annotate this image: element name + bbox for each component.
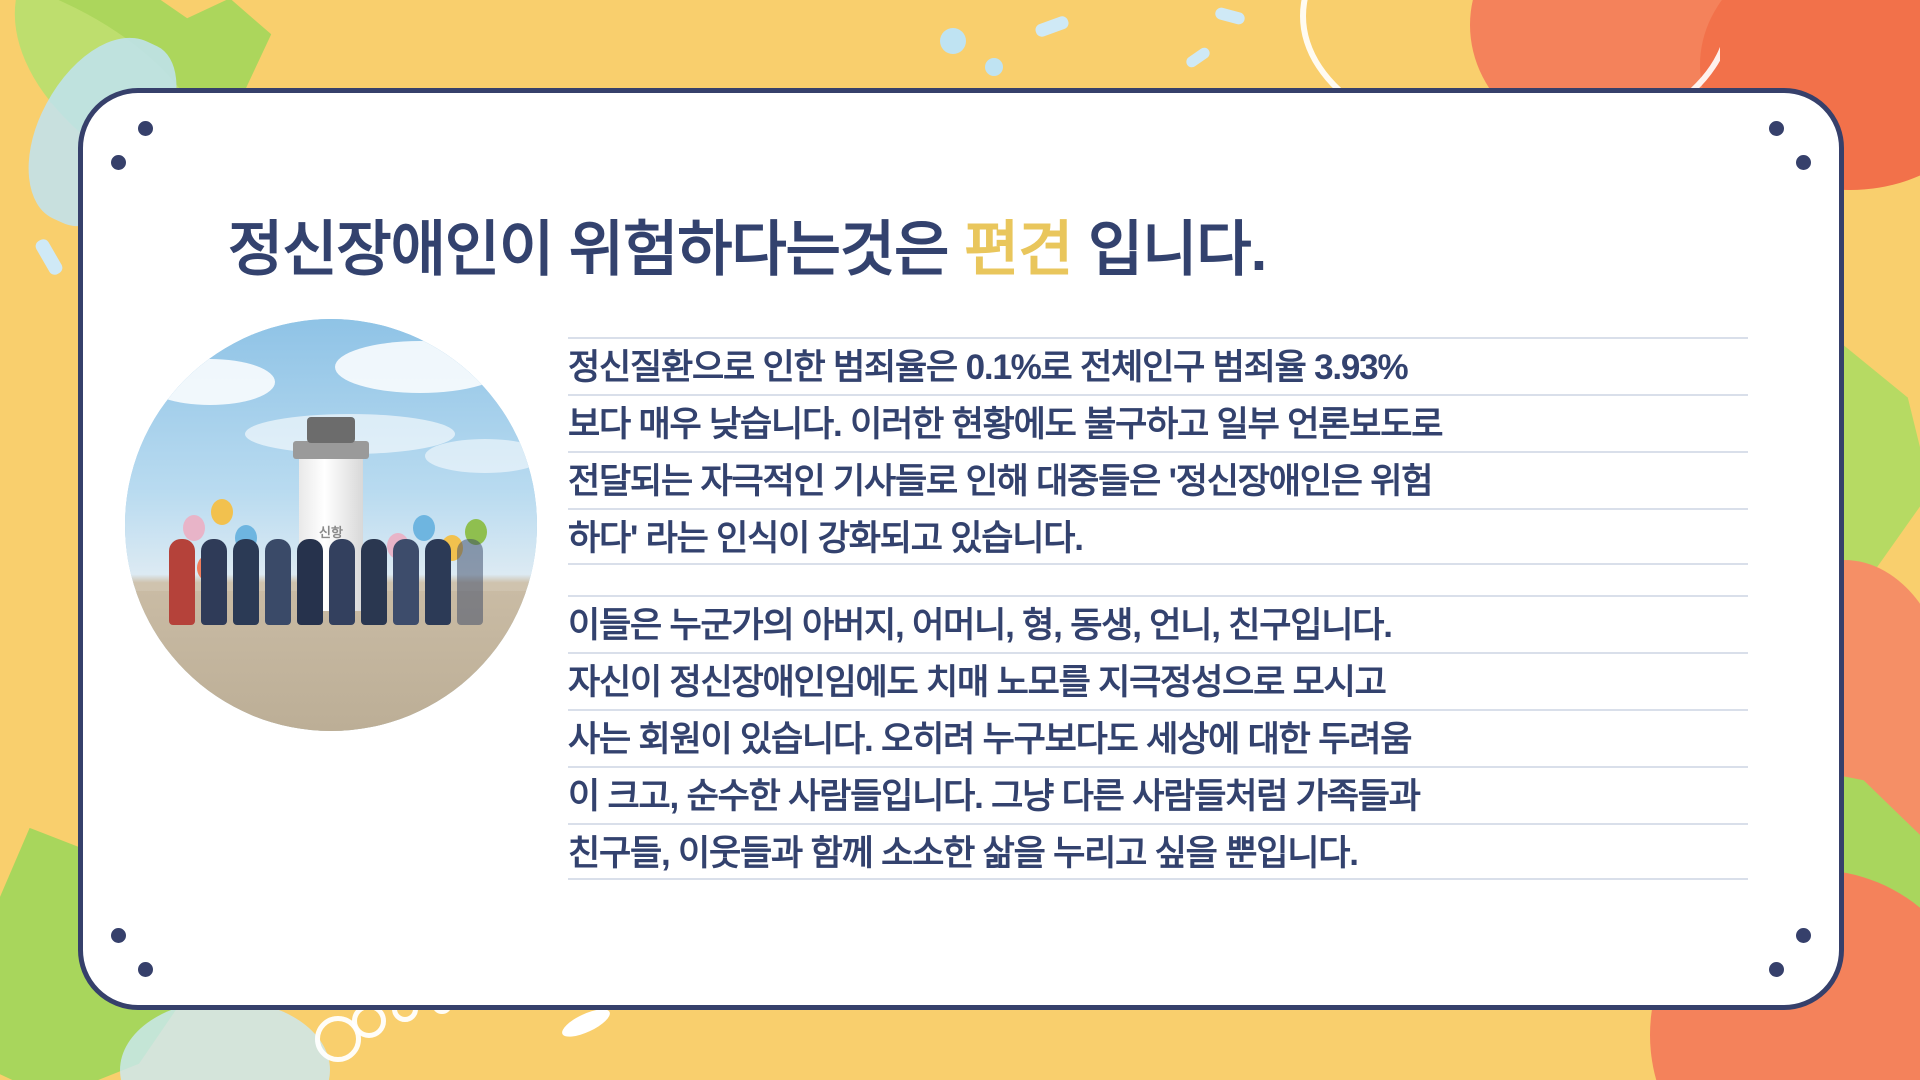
corner-screw-top-right-2	[1796, 155, 1811, 170]
dot-decoration-1	[940, 28, 966, 54]
paragraph-spacer	[568, 565, 1748, 595]
title-part-before: 정신장애인이 위험하다는것은	[228, 216, 948, 283]
corner-screw-top-left-2	[111, 155, 126, 170]
person-1	[169, 539, 195, 625]
text-line: 정신질환으로 인한 범죄율은 0.1%로 전체인구 범죄율 3.93%	[568, 337, 1748, 394]
text-line: 보다 매우 낮습니다. 이러한 현황에도 불구하고 일부 언론보도로	[568, 394, 1748, 451]
person-7	[361, 539, 387, 625]
corner-screw-bottom-right-2	[1796, 928, 1811, 943]
group-photo-lighthouse: 신항	[125, 319, 537, 731]
title-part-after: 입니다.	[1088, 216, 1266, 283]
dot-decoration-2	[985, 58, 1003, 76]
text-line: 전달되는 자극적인 기사들로 인해 대중들은 '정신장애인은 위험	[568, 451, 1748, 508]
person-8	[393, 539, 419, 625]
cloud-4	[425, 439, 537, 473]
title-highlight-word: 편견	[964, 216, 1072, 283]
lighthouse-railing	[293, 441, 369, 459]
lighthouse-lantern	[307, 417, 355, 443]
balloon-2	[211, 499, 233, 525]
body-text: 정신질환으로 인한 범죄율은 0.1%로 전체인구 범죄율 3.93% 보다 매…	[568, 337, 1748, 880]
text-line: 사는 회원이 있습니다. 오히려 누구보다도 세상에 대한 두려움	[568, 709, 1748, 766]
dash-decoration-3	[1184, 46, 1212, 70]
dash-decoration-2	[1214, 6, 1246, 25]
text-line: 이들은 누군가의 아버지, 어머니, 형, 동생, 언니, 친구입니다.	[568, 595, 1748, 652]
person-5	[297, 539, 323, 625]
paragraph-1: 정신질환으로 인한 범죄율은 0.1%로 전체인구 범죄율 3.93% 보다 매…	[568, 337, 1748, 565]
paragraph-2: 이들은 누군가의 아버지, 어머니, 형, 동생, 언니, 친구입니다. 자신이…	[568, 595, 1748, 880]
corner-screw-bottom-left-2	[111, 928, 126, 943]
text-line: 하다' 라는 인식이 강화되고 있습니다.	[568, 508, 1748, 565]
person-6	[329, 539, 355, 625]
poster-canvas: 정신장애인이 위험하다는것은 편견 입니다. 신항	[0, 0, 1920, 1080]
text-line: 이 크고, 순수한 사람들입니다. 그냥 다른 사람들처럼 가족들과	[568, 766, 1748, 823]
text-line: 자신이 정신장애인임에도 치매 노모를 지극정성으로 모시고	[568, 652, 1748, 709]
balloon-1	[183, 515, 205, 541]
cloud-1	[145, 359, 275, 405]
person-3	[233, 539, 259, 625]
dash-decoration-4	[33, 237, 64, 277]
corner-screw-top-right	[1769, 121, 1784, 136]
balloon-6	[413, 515, 435, 541]
content-card: 정신장애인이 위험하다는것은 편견 입니다. 신항	[78, 88, 1844, 1010]
corner-screw-top-left	[138, 121, 153, 136]
dash-decoration-1	[1034, 15, 1070, 39]
person-2	[201, 539, 227, 625]
poster-title: 정신장애인이 위험하다는것은 편견 입니다.	[228, 201, 1728, 288]
blue-blob-bottom-left	[120, 1000, 330, 1080]
cloud-2	[335, 341, 505, 393]
corner-screw-bottom-right	[1769, 962, 1784, 977]
person-9	[425, 539, 451, 625]
person-4	[265, 539, 291, 625]
corner-screw-bottom-left	[138, 962, 153, 977]
person-10	[457, 539, 483, 625]
text-line: 친구들, 이웃들과 함께 소소한 삶을 누리고 싶을 뿐입니다.	[568, 823, 1748, 880]
